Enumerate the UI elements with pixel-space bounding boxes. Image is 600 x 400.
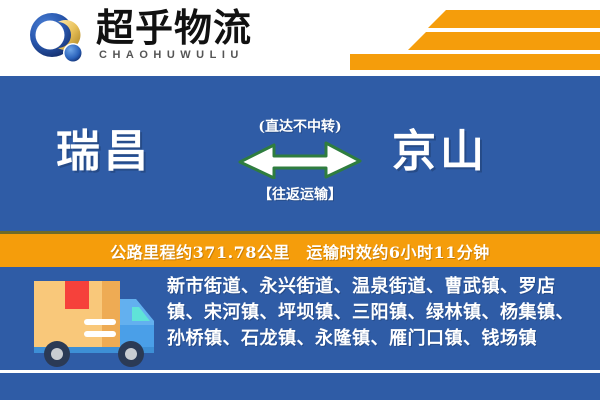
- double-headed-arrow-icon: [235, 139, 365, 184]
- orange-stripes-decoration: [350, 6, 600, 70]
- bottom-divider: [0, 370, 600, 373]
- brand-name-cn: 超乎物流: [96, 8, 252, 48]
- distance-duration-text: 公路里程约371.78公里 运输时效约6小时11分钟: [110, 239, 490, 263]
- coverage-towns-text: 新市街道、永兴街道、温泉街道、曹武镇、罗店镇、宋河镇、坪坝镇、三阳镇、绿林镇、杨…: [167, 274, 587, 352]
- header: 超乎物流 CHAOHUWULIU: [0, 0, 600, 76]
- brand-name-en: CHAOHUWULIU: [99, 49, 244, 61]
- origin-city: 瑞昌: [56, 126, 152, 178]
- distance-duration-bar: 公路里程约371.78公里 运输时效约6小时11分钟: [0, 234, 600, 267]
- route-arrow-block: (直达不中转) 【往返运输】: [235, 118, 365, 204]
- destination-city: 京山: [392, 126, 488, 178]
- circle-crescent-logo-icon: [28, 12, 84, 66]
- direct-shipping-label: (直达不中转): [235, 118, 365, 136]
- route-panel: 瑞昌 (直达不中转) 【往返运输】 京山: [0, 76, 600, 231]
- round-trip-label: 【往返运输】: [235, 186, 365, 204]
- coverage-panel: 新市街道、永兴街道、温泉街道、曹武镇、罗店镇、宋河镇、坪坝镇、三阳镇、绿林镇、杨…: [0, 267, 600, 400]
- delivery-truck-icon: [26, 277, 160, 369]
- logistics-route-banner: 超乎物流 CHAOHUWULIU 瑞昌 (直达不中转) 【往返运输】 京山 公路…: [0, 0, 600, 400]
